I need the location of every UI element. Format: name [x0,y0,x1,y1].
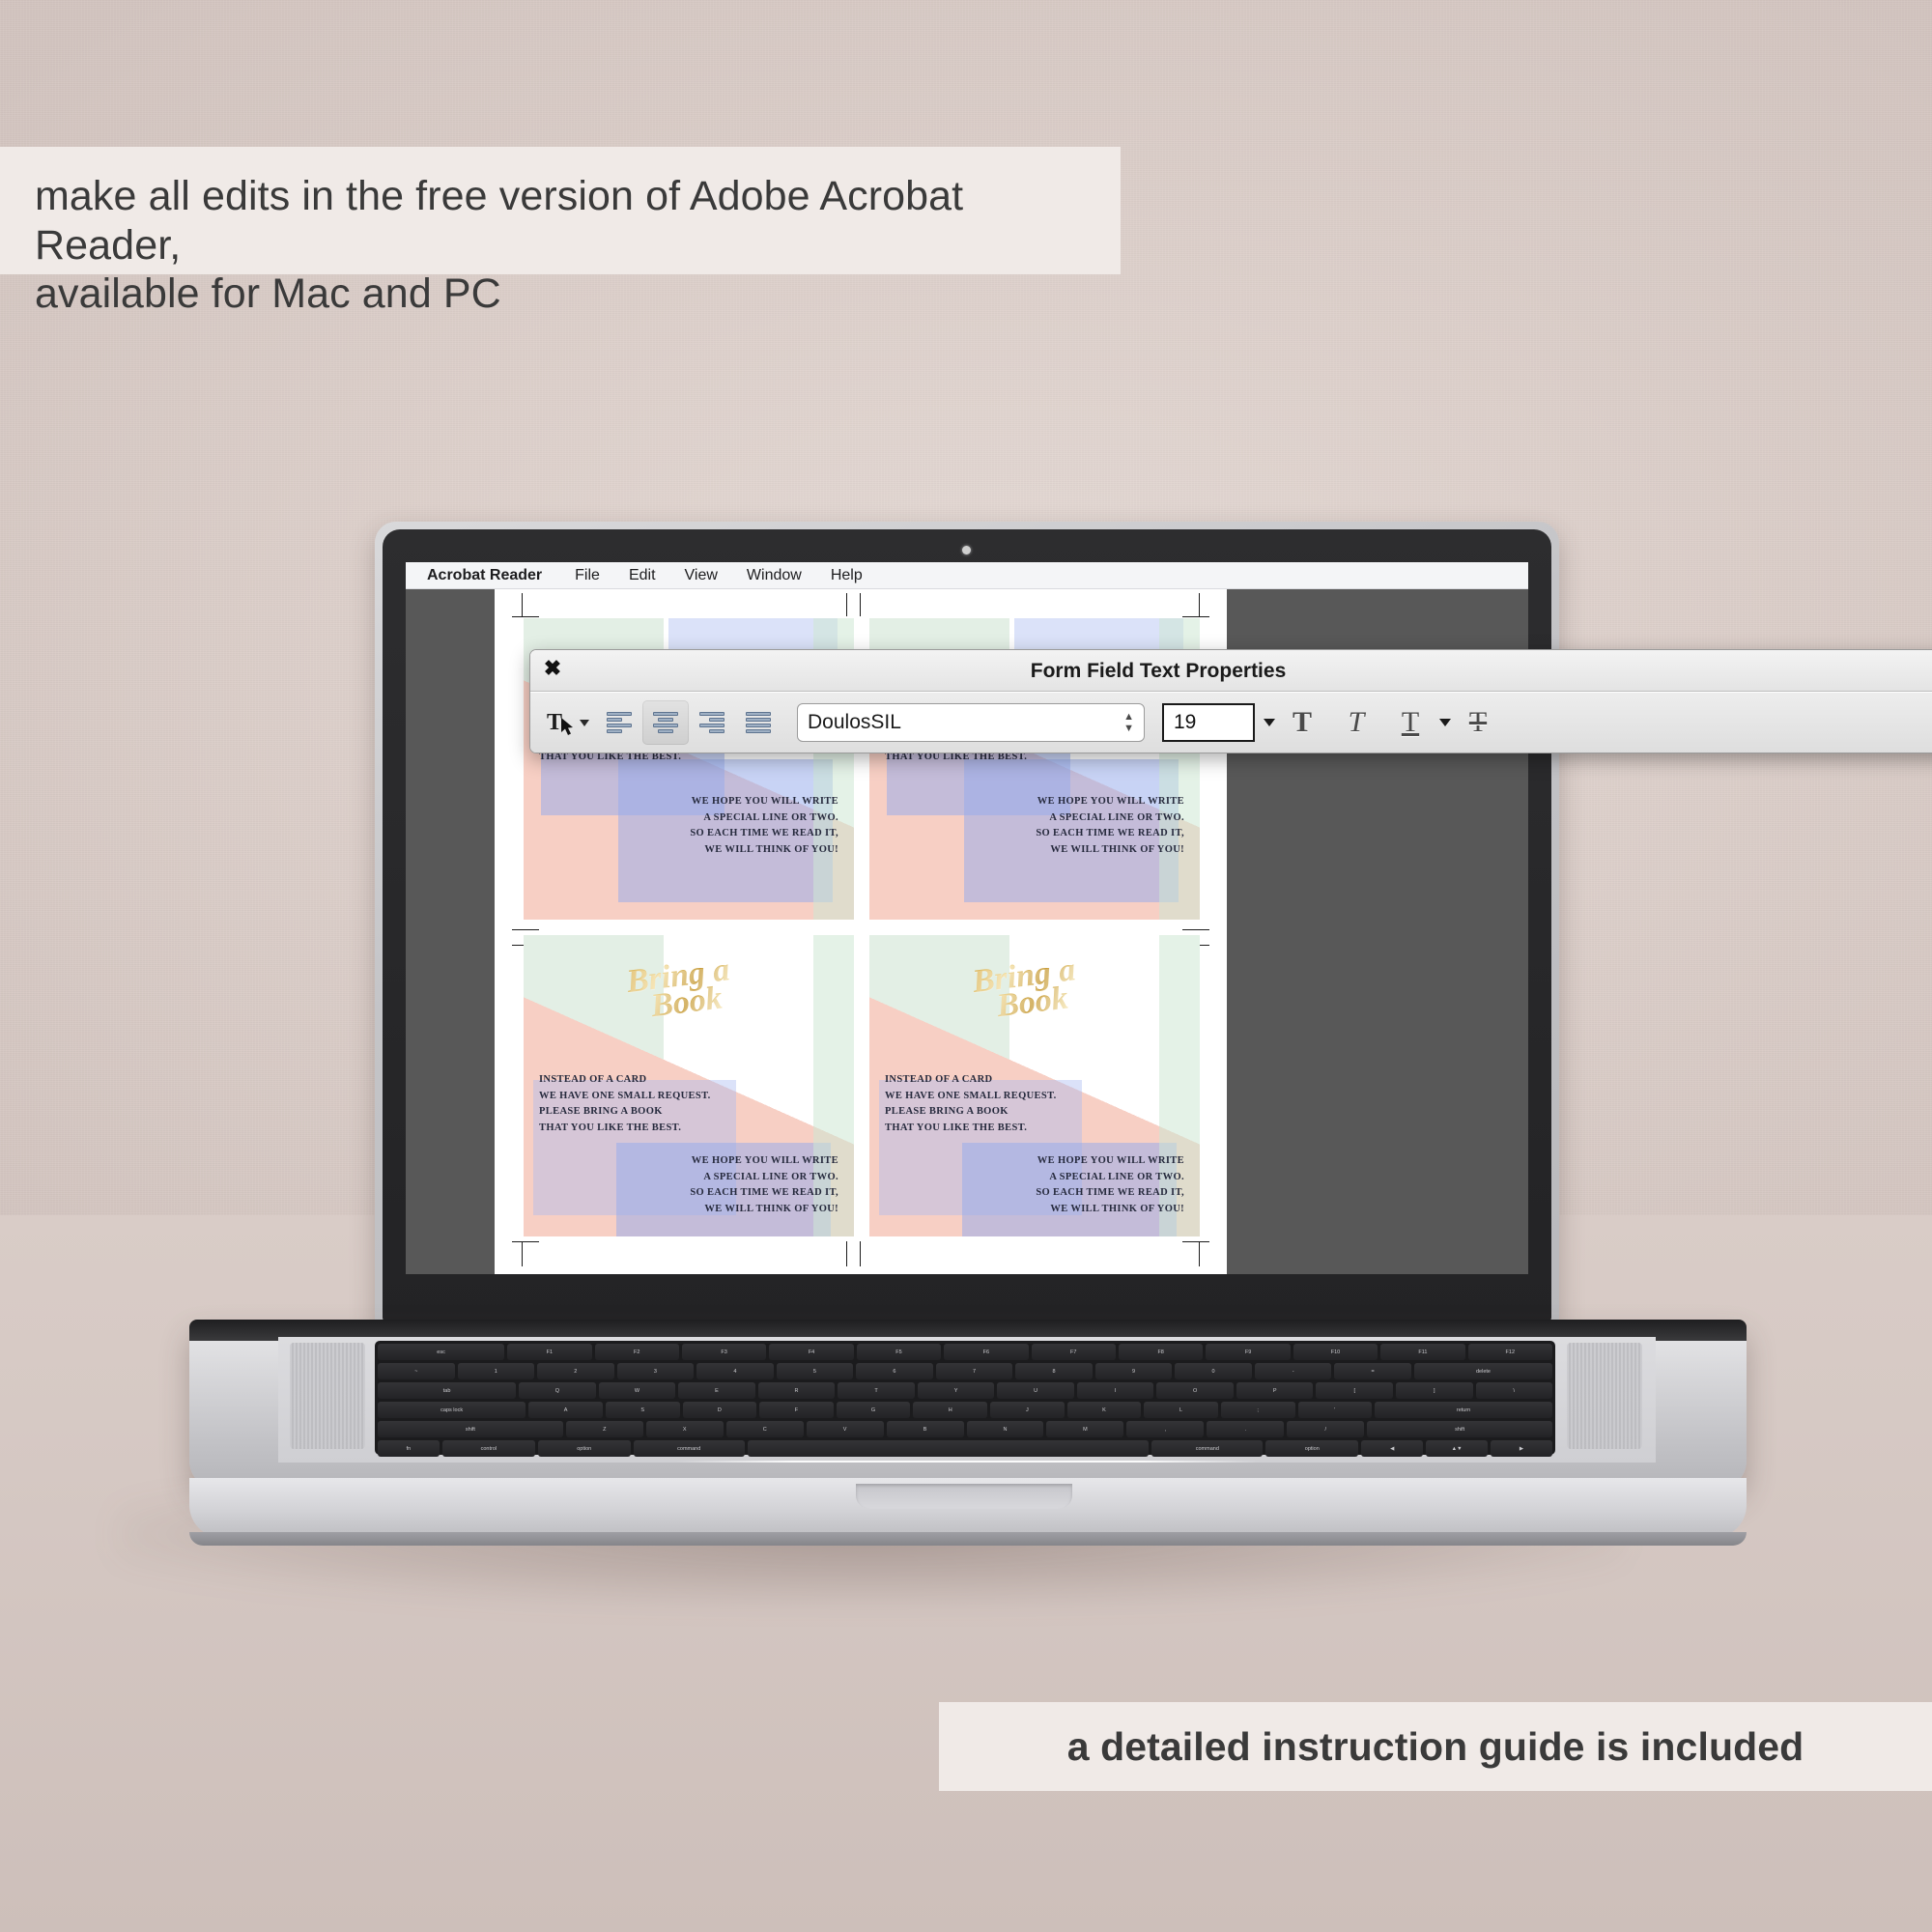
font-family-select[interactable]: DoulosSIL ▲▼ [797,703,1145,742]
key-2[interactable]: 2 [537,1363,614,1379]
key-5[interactable]: 5 [777,1363,854,1379]
align-justify-icon [746,712,771,733]
keyboard-row-shift[interactable]: shiftZXCVBNM,./shift [378,1421,1552,1437]
card-line: PLEASE BRING A BOOK [539,1104,711,1121]
card-line: WE HAVE ONE SMALL REQUEST. [885,1089,1057,1105]
card-text-block-bottom: WE HOPE YOU WILL WRITE A SPECIAL LINE OR… [1036,794,1184,858]
menu-item-help[interactable]: Help [831,567,863,584]
key-.[interactable]: . [1207,1421,1284,1437]
align-center-button[interactable] [642,700,689,745]
key-f9[interactable]: F9 [1206,1344,1290,1360]
keyboard-row-number[interactable]: ~1234567890-=delete [378,1363,1552,1379]
menu-item-edit[interactable]: Edit [629,567,656,584]
key-option[interactable]: option [1265,1440,1358,1457]
keyboard[interactable]: escF1F2F3F4F5F6F7F8F9F10F11F12 ~12345678… [375,1341,1555,1455]
key-space[interactable] [748,1440,1150,1457]
key-o[interactable]: O [1156,1382,1234,1399]
card-line: WE HOPE YOU WILL WRITE [1036,794,1184,810]
card-line: A SPECIAL LINE OR TWO. [690,810,838,827]
key-7[interactable]: 7 [936,1363,1013,1379]
underline-button[interactable]: T [1383,700,1437,745]
chevron-down-icon[interactable] [580,720,589,726]
font-size-value: 19 [1174,711,1196,734]
font-size-input[interactable]: 19 [1162,703,1255,742]
card-line: WE HOPE YOU WILL WRITE [1036,1153,1184,1170]
key-8[interactable]: 8 [1015,1363,1093,1379]
key-9[interactable]: 9 [1095,1363,1173,1379]
menu-item-view[interactable]: View [685,567,718,584]
keyboard-row-qwerty[interactable]: tabQWERTYUIOP[]\ [378,1382,1552,1399]
key-f3[interactable]: F3 [682,1344,766,1360]
crop-mark [522,593,523,616]
trackpad-edge [676,1461,1260,1463]
font-size-chevron-down-icon[interactable] [1264,719,1275,726]
key-d[interactable]: D [683,1402,757,1418]
key-s[interactable]: S [606,1402,680,1418]
card-line: PLEASE BRING A BOOK [885,1104,1057,1121]
menu-item-file[interactable]: File [575,567,600,584]
card-line: SO EACH TIME WE READ IT, [1036,1185,1184,1202]
key-w[interactable]: W [599,1382,676,1399]
key-f10[interactable]: F10 [1293,1344,1378,1360]
crop-mark [846,1241,847,1266]
key-shift[interactable]: shift [1367,1421,1552,1437]
strikethrough-button[interactable]: T [1451,700,1505,745]
card-line: A SPECIAL LINE OR TWO. [690,1170,838,1186]
align-left-button[interactable] [596,700,642,745]
crop-mark [1199,593,1200,616]
key-f7[interactable]: F7 [1032,1344,1116,1360]
card-text-block-top: INSTEAD OF A CARD WE HAVE ONE SMALL REQU… [539,1072,711,1136]
crop-mark [512,1241,539,1242]
key-m[interactable]: M [1046,1421,1123,1437]
card-line: WE HOPE YOU WILL WRITE [690,1153,838,1170]
svg-text:T: T [547,710,562,735]
laptop-front-notch [856,1484,1072,1509]
crop-mark [1199,1241,1200,1266]
key-tab[interactable]: tab [378,1382,516,1399]
key-~[interactable]: ~ [378,1363,455,1379]
key-◀[interactable]: ◀ [1361,1440,1423,1457]
card-line: THAT YOU LIKE THE BEST. [539,1121,711,1137]
key-f11[interactable]: F11 [1380,1344,1464,1360]
card-text-block-bottom: WE HOPE YOU WILL WRITE A SPECIAL LINE OR… [690,794,838,858]
bottom-caption-text: a detailed instruction guide is included [1067,1724,1804,1770]
key-f[interactable]: F [759,1402,834,1418]
key-l[interactable]: L [1144,1402,1218,1418]
menu-item-window[interactable]: Window [747,567,802,584]
key-command[interactable]: command [1151,1440,1263,1457]
top-caption-line-1: make all edits in the free version of Ad… [35,172,1121,270]
crop-mark [860,593,861,616]
card-line: THAT YOU LIKE THE BEST. [885,1121,1057,1137]
top-caption-line-2: available for Mac and PC [35,270,1121,319]
table-row[interactable]: Bring a Book INSTEAD OF A CARD WE HAVE O… [869,935,1200,1236]
stepper-icon[interactable]: ▲▼ [1123,712,1134,733]
align-left-icon [607,712,632,733]
crop-mark [522,1241,523,1266]
card-text-block-top: INSTEAD OF A CARD WE HAVE ONE SMALL REQU… [885,1072,1057,1136]
key-delete[interactable]: delete [1414,1363,1552,1379]
key-h[interactable]: H [913,1402,987,1418]
dialog-title: Form Field Text Properties [530,660,1932,683]
text-cursor-icon: T [547,709,576,736]
keyboard-row-home[interactable]: caps lockASDFGHJKL;'return [378,1402,1552,1418]
key-4[interactable]: 4 [696,1363,774,1379]
card-line: A SPECIAL LINE OR TWO. [1036,1170,1184,1186]
crop-mark [860,1241,861,1266]
card-line: WE WILL THINK OF YOU! [690,1202,838,1218]
laptop-base-front [189,1532,1747,1546]
crop-mark [1182,1241,1209,1242]
key-u[interactable]: U [997,1382,1074,1399]
key-return[interactable]: return [1375,1402,1552,1418]
keyboard-row-modifier[interactable]: fncontroloptioncommandcommandoption◀▲▼▶ [378,1440,1552,1457]
card-line: A SPECIAL LINE OR TWO. [1036,810,1184,827]
key-q[interactable]: Q [519,1382,596,1399]
bold-button[interactable]: T [1275,700,1329,745]
crop-mark [1182,616,1209,617]
card-line: WE WILL THINK OF YOU! [1036,1202,1184,1218]
key-f12[interactable]: F12 [1468,1344,1552,1360]
align-justify-button[interactable] [735,700,781,745]
card-text-block-bottom: WE HOPE YOU WILL WRITE A SPECIAL LINE OR… [1036,1153,1184,1217]
key-,[interactable]: , [1126,1421,1204,1437]
key-;[interactable]: ; [1221,1402,1295,1418]
card-line: SO EACH TIME WE READ IT, [690,1185,838,1202]
key-option[interactable]: option [538,1440,631,1457]
key-f4[interactable]: F4 [769,1344,853,1360]
align-right-button[interactable] [689,700,735,745]
key-caps-lock[interactable]: caps lock [378,1402,526,1418]
card-line: SO EACH TIME WE READ IT, [690,826,838,842]
key-v[interactable]: V [807,1421,884,1437]
key-6[interactable]: 6 [856,1363,933,1379]
key-b[interactable]: B [887,1421,964,1437]
key-'[interactable]: ' [1298,1402,1373,1418]
speaker-grille-right [1567,1343,1642,1449]
menu-item-acrobat-reader[interactable]: Acrobat Reader [427,567,542,584]
key-e[interactable]: E [678,1382,755,1399]
key-esc[interactable]: esc [378,1344,504,1360]
key-x[interactable]: X [646,1421,724,1437]
key-3[interactable]: 3 [617,1363,695,1379]
speaker-grille-left [290,1343,365,1449]
key-command[interactable]: command [634,1440,745,1457]
key-f2[interactable]: F2 [595,1344,679,1360]
key-0[interactable]: 0 [1175,1363,1252,1379]
key-n[interactable]: N [967,1421,1044,1437]
card-line: WE WILL THINK OF YOU! [1036,842,1184,859]
key-f6[interactable]: F6 [944,1344,1028,1360]
card-line: SO EACH TIME WE READ IT, [1036,826,1184,842]
key-c[interactable]: C [726,1421,804,1437]
key-control[interactable]: control [442,1440,535,1457]
form-field-text-properties-dialog[interactable]: ✖ Form Field Text Properties T DoulosSIL… [529,649,1932,753]
key-t[interactable]: T [838,1382,915,1399]
key-f5[interactable]: F5 [857,1344,941,1360]
dialog-title-bar: ✖ Form Field Text Properties [530,650,1932,692]
key-j[interactable]: J [990,1402,1065,1418]
key-[[interactable]: [ [1316,1382,1393,1399]
card-line: WE HAVE ONE SMALL REQUEST. [539,1089,711,1105]
table-row[interactable]: Bring a Book INSTEAD OF A CARD WE HAVE O… [524,935,854,1236]
text-tool-button[interactable]: T [540,700,596,745]
dialog-toolbar[interactable]: T DoulosSIL ▲▼ 19 T T T T [530,692,1932,753]
key-shift[interactable]: shift [378,1421,563,1437]
key-k[interactable]: K [1067,1402,1142,1418]
key-f1[interactable]: F1 [507,1344,591,1360]
crop-mark [846,593,847,616]
key-=[interactable]: = [1334,1363,1411,1379]
key-fn[interactable]: fn [378,1440,440,1457]
crop-mark [512,616,539,617]
key-r[interactable]: R [758,1382,836,1399]
key-f8[interactable]: F8 [1119,1344,1203,1360]
key--[interactable]: - [1255,1363,1332,1379]
card-line: WE WILL THINK OF YOU! [690,842,838,859]
card-line: INSTEAD OF A CARD [885,1072,1057,1089]
key-z[interactable]: Z [566,1421,643,1437]
key-a[interactable]: A [528,1402,603,1418]
key-\[interactable]: \ [1476,1382,1553,1399]
key-][interactable]: ] [1396,1382,1473,1399]
key-/[interactable]: / [1287,1421,1364,1437]
align-right-icon [699,712,724,733]
keyboard-row-function[interactable]: escF1F2F3F4F5F6F7F8F9F10F11F12 [378,1344,1552,1360]
key-i[interactable]: I [1077,1382,1154,1399]
card-text-block-bottom: WE HOPE YOU WILL WRITE A SPECIAL LINE OR… [690,1153,838,1217]
key-▶[interactable]: ▶ [1491,1440,1552,1457]
key-y[interactable]: Y [918,1382,995,1399]
top-caption-banner: make all edits in the free version of Ad… [0,147,1121,274]
italic-button[interactable]: T [1329,700,1383,745]
mac-menu-bar[interactable]: Acrobat Reader File Edit View Window Hel… [406,562,1528,589]
bottom-caption-banner: a detailed instruction guide is included [939,1702,1932,1791]
align-center-icon [653,712,678,733]
card-line: WE HOPE YOU WILL WRITE [690,794,838,810]
key-p[interactable]: P [1236,1382,1314,1399]
key-▲▼[interactable]: ▲▼ [1426,1440,1488,1457]
card-line: INSTEAD OF A CARD [539,1072,711,1089]
underline-chevron-down-icon[interactable] [1439,719,1451,726]
key-g[interactable]: G [837,1402,911,1418]
key-1[interactable]: 1 [458,1363,535,1379]
font-family-value: DoulosSIL [808,711,901,734]
